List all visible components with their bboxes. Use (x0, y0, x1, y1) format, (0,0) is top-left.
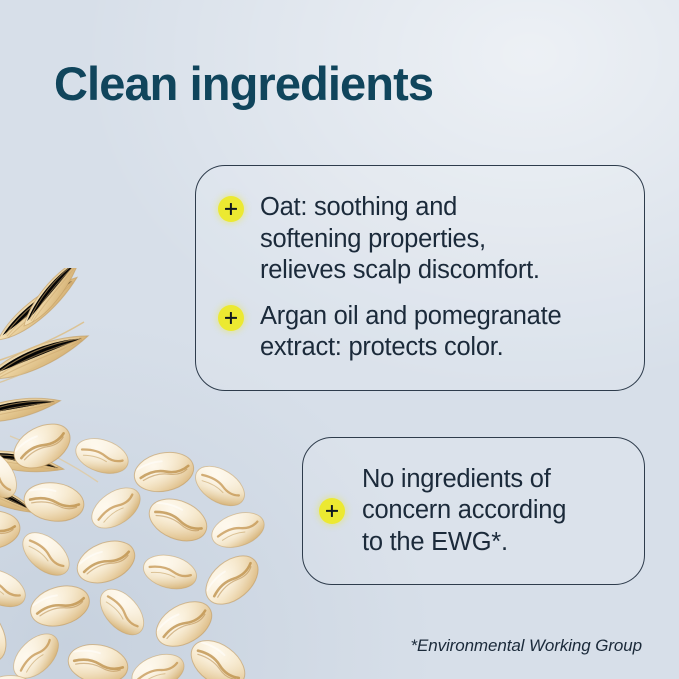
list-item: No ingredients of concern according to t… (319, 464, 566, 559)
ingredients-card: Oat: soothing and softening properties, … (195, 165, 645, 391)
list-item: Argan oil and pomegranate extract: prote… (218, 301, 624, 364)
list-item: Oat: soothing and softening properties, … (218, 192, 624, 287)
plus-badge-icon (319, 498, 345, 524)
footnote: *Environmental Working Group (410, 636, 642, 656)
list-item-label: Argan oil and pomegranate extract: prote… (260, 301, 561, 364)
plus-badge-icon (218, 305, 244, 331)
product-ingredients-infographic: Clean ingredients Oat: soothing and soft… (0, 0, 679, 679)
list-item-label: Oat: soothing and softening properties, … (260, 192, 540, 287)
list-item-label: No ingredients of concern according to t… (362, 464, 566, 559)
plus-badge-icon (218, 196, 244, 222)
page-title: Clean ingredients (54, 58, 433, 111)
ewg-card: No ingredients of concern according to t… (302, 437, 645, 585)
